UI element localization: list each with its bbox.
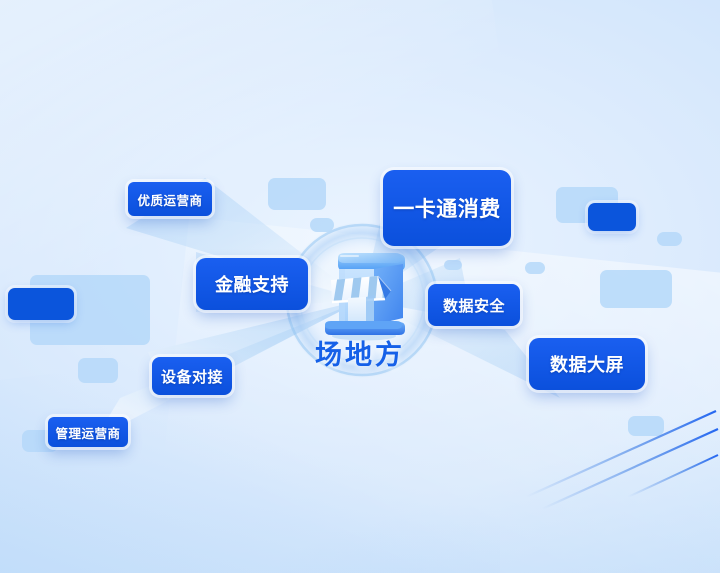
node-chip-label: 数据安全 xyxy=(443,295,505,316)
node-chip-label: 一卡通消费 xyxy=(393,193,501,223)
infographic-canvas: 场地方 一卡通消费金融支持数据大屏数据安全优质运营商设备对接管理运营商 xyxy=(0,0,720,573)
node-chip-label: 管理运营商 xyxy=(55,423,120,442)
node-chip-shujudaping[interactable]: 数据大屏 xyxy=(529,338,645,390)
node-chip-youzhiyunying[interactable]: 优质运营商 xyxy=(128,182,212,216)
node-chip-label: 数据大屏 xyxy=(550,351,624,377)
node-chip-yikatong[interactable]: 一卡通消费 xyxy=(383,170,511,246)
node-chip-guanliyunying[interactable]: 管理运营商 xyxy=(48,417,128,447)
node-chip-shebeiduijie[interactable]: 设备对接 xyxy=(152,357,232,395)
node-chip-label: 金融支持 xyxy=(215,271,289,297)
node-chip-label: 优质运营商 xyxy=(137,190,202,209)
node-chip-shujuanquan[interactable]: 数据安全 xyxy=(428,284,520,326)
diagonal-speed-lines xyxy=(520,393,720,513)
node-chip-label: 设备对接 xyxy=(161,366,223,387)
node-chip-jinrong[interactable]: 金融支持 xyxy=(196,258,308,310)
